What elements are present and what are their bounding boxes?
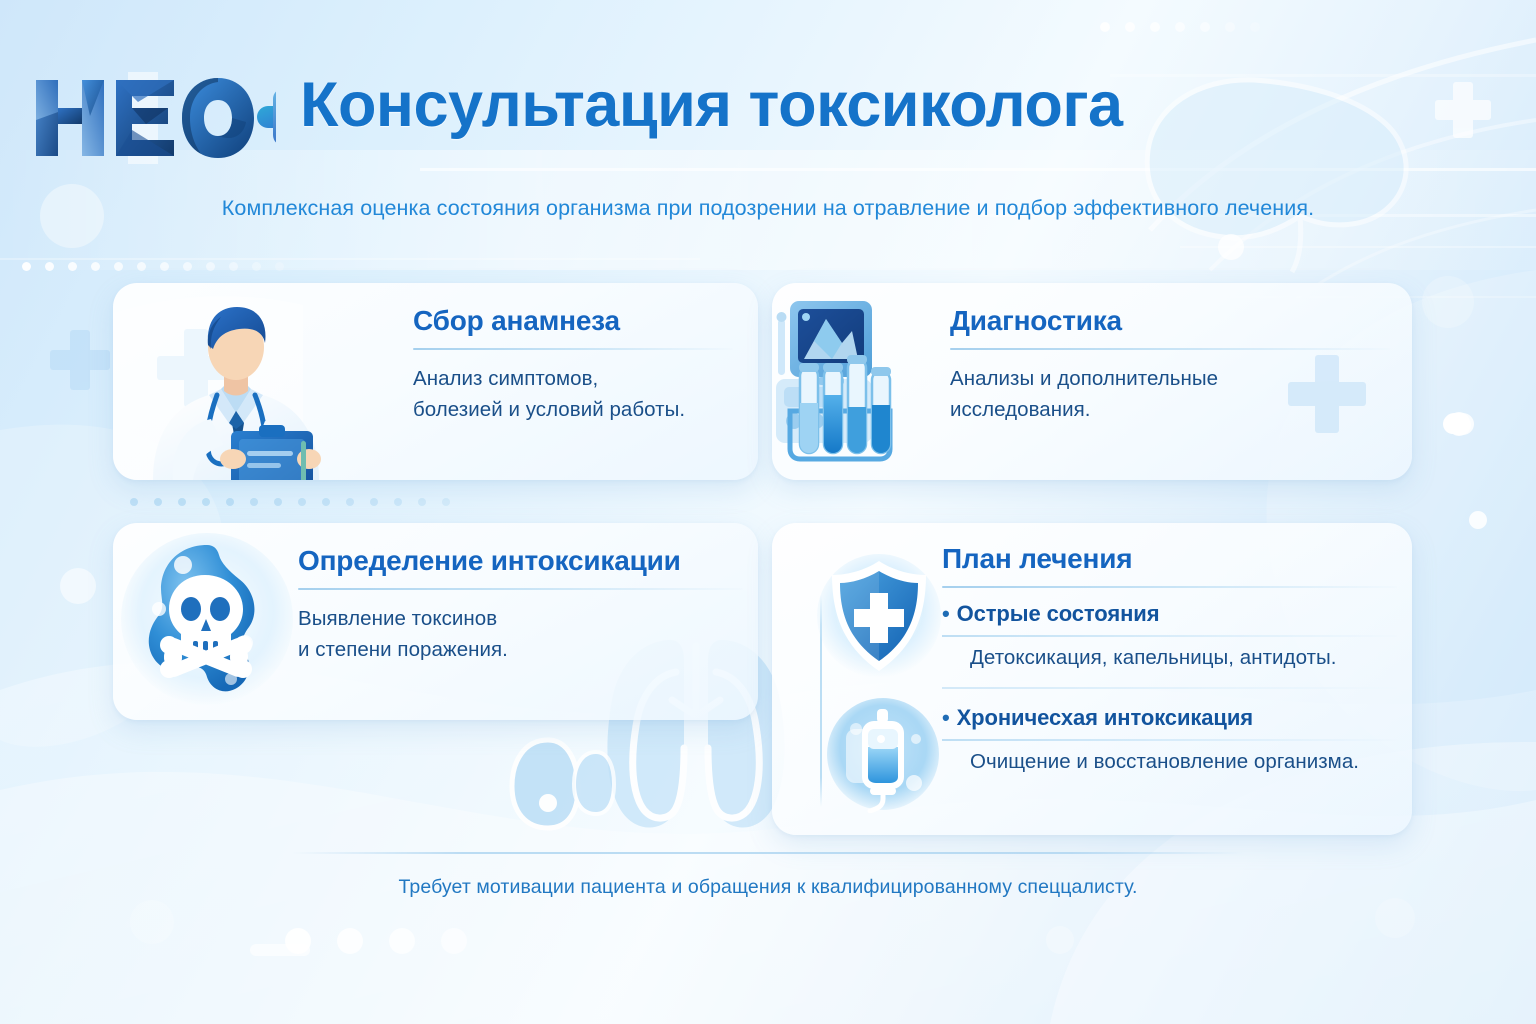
- kidney-outline-decor: [512, 740, 614, 828]
- card-treatment-plan-title: План лечения: [942, 543, 1397, 575]
- bullet-icon: •: [942, 601, 950, 626]
- card-diagnostic-title: Диагностика: [950, 305, 1390, 337]
- neo-plus-logo: [28, 72, 276, 164]
- doctor-with-clipboard-illustration: [113, 283, 413, 480]
- divider: [298, 588, 743, 590]
- shield-with-cross-icon: [814, 551, 944, 681]
- dot-row-decor: [22, 262, 284, 271]
- desc-line: Анализы и дополнительные: [950, 363, 1390, 394]
- card-diagnostic-description: Анализы и дополнительные исследования.: [950, 363, 1390, 425]
- bullet-icon: •: [942, 705, 950, 730]
- divider: [942, 586, 1397, 588]
- card-intoxication[interactable]: Определение интоксикации Выявление токси…: [113, 523, 758, 720]
- infographic-canvas: Консультация токсиколога Комплексная оце…: [0, 0, 1536, 1024]
- divider: [942, 635, 1397, 637]
- desc-line: Анализ симптомов,: [413, 363, 733, 394]
- divider: [942, 687, 1397, 689]
- card-intoxication-description: Выявление токсинов и степени поражения.: [298, 603, 743, 665]
- plan-item-acute-head: •Острые состояния: [942, 601, 1397, 627]
- skull-and-crossbones-toxic-icon: [113, 523, 303, 720]
- footer-note: Требует мотивации пациента и обращения к…: [0, 876, 1536, 899]
- card-intoxication-title: Определение интоксикации: [298, 545, 743, 577]
- footer-divider: [292, 852, 1244, 854]
- card-diagnostic-body: Диагностика Анализы и дополнительные исс…: [950, 305, 1390, 425]
- card-anamnesis-title: Сбор анамнеза: [413, 305, 733, 337]
- dot-row-decor: [285, 928, 467, 954]
- desc-line: болезией и условий работы.: [413, 394, 733, 425]
- divider: [950, 348, 1390, 350]
- card-anamnesis-body: Сбор анамнеза Анализ симптомов, болезией…: [413, 305, 733, 425]
- plan-item-chronic[interactable]: •Хроничесхая интоксикация Очищение и вос…: [942, 705, 1397, 774]
- desc-line: Выявление токсинов: [298, 603, 743, 634]
- medical-cross-decor: [50, 330, 110, 390]
- page-subtitle: Комплексная оценка состояния организма п…: [0, 196, 1536, 221]
- iv-drip-bag-icon: [824, 695, 942, 813]
- plan-item-chronic-head: •Хроничесхая интоксикация: [942, 705, 1397, 731]
- card-diagnostic[interactable]: Диагностика Анализы и дополнительные исс…: [772, 283, 1412, 480]
- card-treatment-plan[interactable]: План лечения •Острые состояния Детоксика…: [772, 523, 1412, 835]
- page-title: Консультация токсиколога: [300, 74, 1123, 137]
- divider: [413, 348, 733, 350]
- divider: [942, 739, 1397, 741]
- dot-row-decor: [130, 498, 450, 506]
- plan-item-acute-label: Острые состояния: [957, 601, 1160, 626]
- desc-line: исследования.: [950, 394, 1390, 425]
- medical-cross-decor: [157, 329, 235, 407]
- card-anamnesis[interactable]: Сбор анамнеза Анализ симптомов, болезией…: [113, 283, 758, 480]
- plan-item-chronic-label: Хроничесхая интоксикация: [957, 705, 1253, 730]
- plan-item-acute[interactable]: •Острые состояния Детоксикация, капельни…: [942, 601, 1397, 670]
- lab-equipment-test-tubes-illustration: [772, 283, 962, 480]
- plan-item-chronic-sub: Очищение и восстановление организма.: [942, 750, 1397, 774]
- neo-plus-logo-mark: [28, 72, 276, 164]
- page-header: Консультация токсиколога Комплексная оце…: [0, 0, 1536, 250]
- card-treatment-plan-body: План лечения •Острые состояния Детоксика…: [942, 543, 1397, 774]
- plan-item-acute-sub: Детоксикация, капельницы, антидоты.: [942, 646, 1397, 670]
- card-intoxication-body: Определение интоксикации Выявление токси…: [298, 545, 743, 665]
- desc-line: и степени поражения.: [298, 634, 743, 665]
- card-anamnesis-description: Анализ симптомов, болезией и условий раб…: [413, 363, 733, 425]
- clipboard-icon: [231, 425, 313, 480]
